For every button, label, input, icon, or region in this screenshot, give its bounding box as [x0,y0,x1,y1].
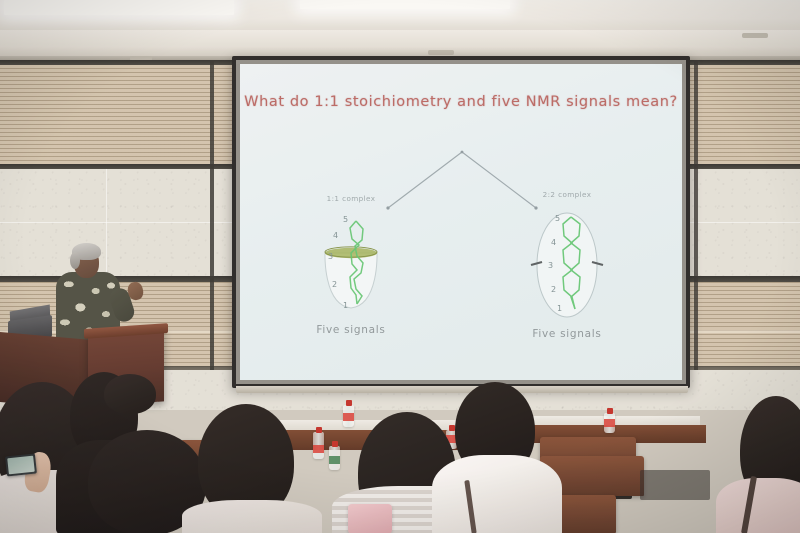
water-bottle-2[interactable] [329,446,340,470]
ceiling-vent-left [428,50,454,55]
lecture-hall-scene: What do 1:1 stoichiometry and five NMR s… [0,0,800,533]
audience-shoulders-rightmost [716,478,800,533]
water-bottle-1[interactable] [313,432,324,459]
panel-one-to-one: 1:1 complex 5 4 3 [276,194,426,336]
water-bottle-4[interactable] [604,413,615,433]
wall-mullion-left [210,60,214,370]
panel-two-to-two: 2:2 complex 5 4 3 2 1 [492,190,642,340]
chain-label-5: 5 [555,214,560,223]
ceiling-soffit [0,30,800,58]
presentation-slide: What do 1:1 stoichiometry and five NMR s… [240,64,682,380]
wall-mullion-right [694,60,698,370]
audience-head-leftedge [104,374,156,414]
panel-one-to-one-footer: Five signals [276,324,426,336]
wall-seam-2 [106,169,107,277]
pink-bag [348,504,392,533]
chain-label-2: 2 [332,280,337,289]
ceiling-light-2 [300,0,510,9]
bottle-label [329,456,340,464]
audience-shoulders-4 [182,500,322,533]
slide-title: What do 1:1 stoichiometry and five NMR s… [240,94,682,110]
panel-two-to-two-footer: Five signals [492,328,642,340]
panel-two-to-two-caption: 2:2 complex [492,190,642,199]
chain-label-2: 2 [551,285,556,294]
chain-label-5: 5 [343,215,348,224]
water-bottle-3[interactable] [343,405,354,427]
ceiling-vent-right [742,33,768,38]
phone-device[interactable] [5,453,37,476]
projection-screen: What do 1:1 stoichiometry and five NMR s… [232,56,690,388]
chain-label-1: 1 [557,304,562,313]
screen-bottom-bar [236,386,688,393]
speaker-hair-side [70,252,80,269]
panel-one-to-one-caption: 1:1 complex [276,194,426,203]
bottle-label [604,419,615,427]
chain-label-4: 4 [551,238,556,247]
chain-label-3: 3 [328,252,333,261]
ceiling-light-1 [4,0,234,15]
chain-label-1: 1 [343,301,348,310]
bottle-label [343,413,354,421]
figure-cup-complex: 5 4 3 2 1 [299,209,403,319]
chain-label-3: 3 [548,261,553,270]
chair-dark-strip [640,470,710,500]
bottle-label [313,445,324,453]
figure-capsule-complex: 5 4 3 2 1 [515,205,619,323]
chain-label-4: 4 [333,231,338,240]
